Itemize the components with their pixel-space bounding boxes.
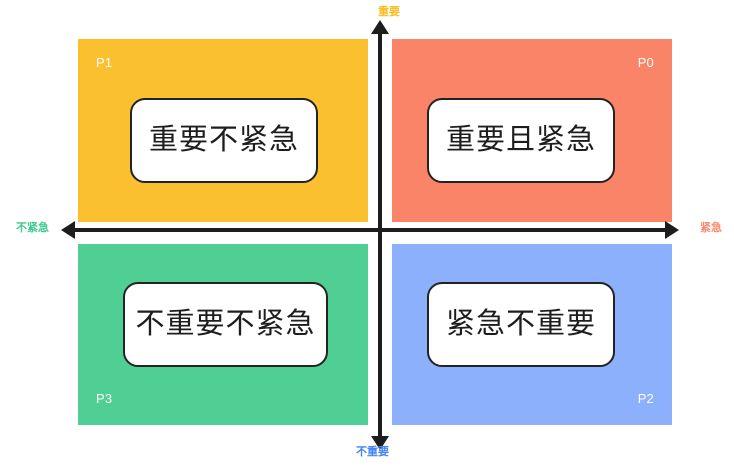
- priority-matrix-diagram: P1 P0 P3 P2 重要 不重要 不紧急 紧急 重要不紧急 重要且紧急 不重…: [0, 0, 734, 470]
- label-box-p3: 不重要不紧急: [123, 282, 328, 367]
- quadrant-p3-code: P3: [96, 392, 112, 405]
- axis-label-important: 重要: [378, 7, 400, 18]
- quadrant-p1-code: P1: [96, 56, 112, 69]
- quadrant-p0-code: P0: [638, 56, 654, 69]
- label-box-p1: 重要不紧急: [130, 98, 318, 183]
- quadrant-p2-code: P2: [638, 392, 654, 405]
- horizontal-axis-line: [64, 228, 666, 232]
- label-box-p1-text: 重要不紧急: [149, 126, 299, 155]
- axis-label-urgent: 紧急: [700, 223, 722, 234]
- axis-label-not-urgent: 不紧急: [16, 223, 49, 234]
- label-box-p2-text: 紧急不重要: [446, 310, 596, 339]
- arrow-up-icon: [371, 20, 389, 34]
- vertical-axis-line: [378, 30, 382, 438]
- arrow-left-icon: [61, 221, 75, 239]
- axis-label-not-important: 不重要: [356, 447, 389, 458]
- label-box-p2: 紧急不重要: [427, 282, 615, 367]
- label-box-p0-text: 重要且紧急: [446, 126, 596, 155]
- label-box-p3-text: 不重要不紧急: [135, 310, 315, 339]
- label-box-p0: 重要且紧急: [427, 98, 615, 183]
- arrow-right-icon: [665, 221, 679, 239]
